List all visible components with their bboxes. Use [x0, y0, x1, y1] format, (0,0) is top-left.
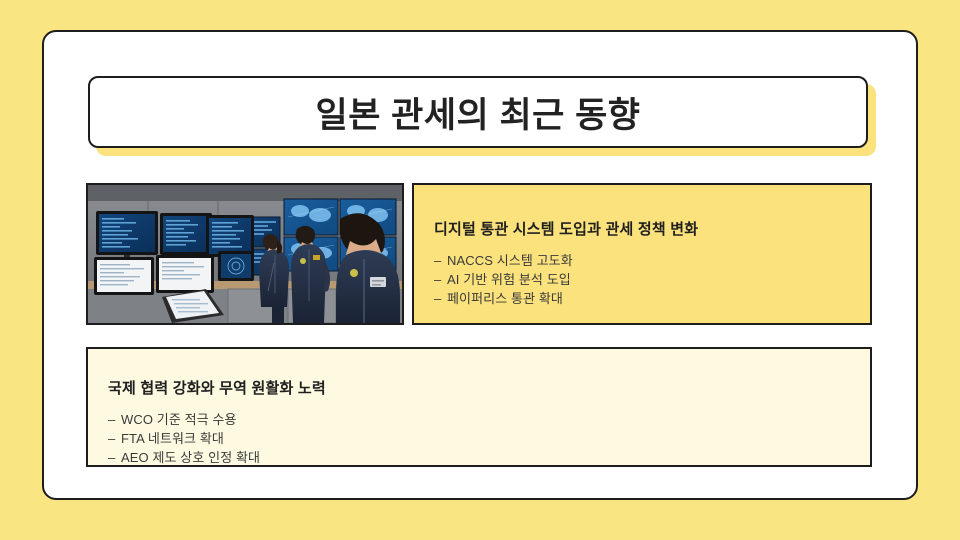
- section-bullet-list: – WCO 기준 적극 수용 – FTA 네트워크 확대 – AEO 제도 상호…: [108, 410, 870, 467]
- bullet-text: NACCS 시스템 고도화: [447, 253, 573, 268]
- section-bullet-list: – NACCS 시스템 고도화 – AI 기반 위험 분석 도입 – 페이퍼리스…: [434, 251, 870, 308]
- bullet-dash: –: [108, 448, 115, 467]
- bullet-text: WCO 기준 적극 수용: [121, 412, 237, 427]
- bullet-dash: –: [108, 410, 115, 429]
- bullet-dash: –: [434, 251, 441, 270]
- page-title: 일본 관세의 최근 동향: [316, 87, 641, 138]
- bullet-dash: –: [434, 270, 441, 289]
- list-item: – NACCS 시스템 고도화: [434, 251, 870, 270]
- list-item: – FTA 네트워크 확대: [108, 429, 870, 448]
- list-item: – AEO 제도 상호 인정 확대: [108, 448, 870, 467]
- section-international-cooperation: 국제 협력 강화와 무역 원활화 노력 – WCO 기준 적극 수용 – FTA…: [86, 347, 872, 467]
- slide-root: 일본 관세의 최근 동향: [0, 0, 960, 540]
- customs-control-room-photo: [86, 183, 404, 325]
- section-heading: 국제 협력 강화와 무역 원활화 노력: [108, 377, 870, 398]
- bullet-text: AEO 제도 상호 인정 확대: [121, 450, 260, 465]
- bullet-text: FTA 네트워크 확대: [121, 431, 224, 446]
- list-item: – AI 기반 위험 분석 도입: [434, 270, 870, 289]
- list-item: – 페이퍼리스 통관 확대: [434, 289, 870, 308]
- bullet-text: 페이퍼리스 통관 확대: [447, 291, 563, 306]
- title-box: 일본 관세의 최근 동향: [88, 76, 868, 148]
- bullet-dash: –: [434, 289, 441, 308]
- list-item: – WCO 기준 적극 수용: [108, 410, 870, 429]
- section-heading: 디지털 통관 시스템 도입과 관세 정책 변화: [434, 218, 870, 239]
- section-digital-customs: 디지털 통관 시스템 도입과 관세 정책 변화 – NACCS 시스템 고도화 …: [412, 183, 872, 325]
- bullet-dash: –: [108, 429, 115, 448]
- bullet-text: AI 기반 위험 분석 도입: [447, 272, 571, 287]
